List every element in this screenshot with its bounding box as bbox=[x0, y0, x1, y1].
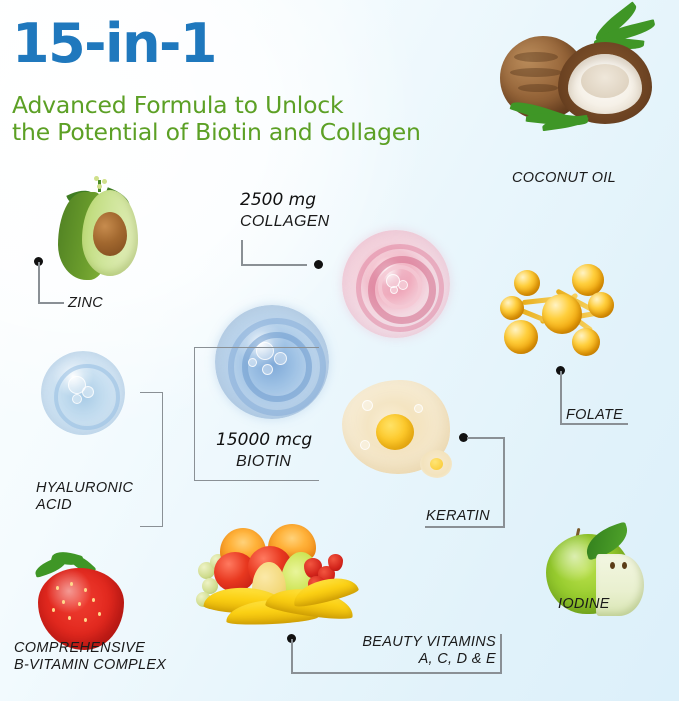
beauty-vitamins-label: BEAUTY VITAMINS A, C, D & E bbox=[360, 634, 496, 668]
beauty-vitamins-leader-line-right bbox=[500, 634, 502, 674]
water-droplet-sphere-icon bbox=[38, 348, 130, 440]
keratin-leader-line-horizontal bbox=[467, 437, 505, 439]
collagen-leader-line-vertical bbox=[241, 240, 243, 265]
hyaluronic-acid-leader-bracket bbox=[140, 392, 163, 527]
biotin-label: BIOTIN bbox=[236, 453, 291, 470]
hyaluronic-acid-label: HYALURONIC ACID bbox=[36, 480, 133, 514]
folate-label: FOLATE bbox=[566, 407, 623, 424]
coconut-oil-label: COCONUT OIL bbox=[512, 170, 616, 187]
zinc-leader-line-vertical bbox=[38, 262, 40, 303]
beauty-vitamins-leader-line-vertical bbox=[291, 639, 293, 674]
keratin-leader-line-vertical bbox=[503, 437, 505, 527]
iodine-label: IODINE bbox=[558, 596, 610, 613]
collagen-leader-line-horizontal bbox=[241, 264, 307, 266]
collagen-leader-dot bbox=[314, 260, 323, 269]
beauty-vitamins-leader-line-horizontal bbox=[291, 672, 501, 674]
b-vitamin-complex-label: COMPREHENSIVE B-VITAMIN COMPLEX bbox=[14, 640, 166, 674]
keratin-label: KERATIN bbox=[426, 508, 490, 525]
avocado-icon bbox=[52, 176, 162, 294]
mixed-fruit-icon bbox=[196, 518, 426, 638]
molecule-icon bbox=[496, 258, 626, 368]
pink-serum-sphere-icon bbox=[340, 228, 460, 348]
zinc-label: ZINC bbox=[68, 295, 103, 312]
zinc-leader-line-horizontal bbox=[38, 302, 64, 304]
folate-leader-line-vertical bbox=[560, 371, 562, 424]
collagen-amount: 2500 mg bbox=[240, 190, 316, 211]
page-subtitle: Advanced Formula to Unlock the Potential… bbox=[12, 92, 421, 146]
infographic-poster: 15-in-1 Advanced Formula to Unlock the P… bbox=[0, 0, 679, 701]
keratin-blob-icon bbox=[340, 378, 470, 488]
biotin-amount: 15000 mcg bbox=[216, 430, 312, 451]
page-title: 15-in-1 bbox=[12, 17, 216, 71]
collagen-label: COLLAGEN bbox=[240, 213, 330, 230]
keratin-leader-underline bbox=[425, 526, 505, 528]
coconut-icon bbox=[490, 14, 670, 139]
